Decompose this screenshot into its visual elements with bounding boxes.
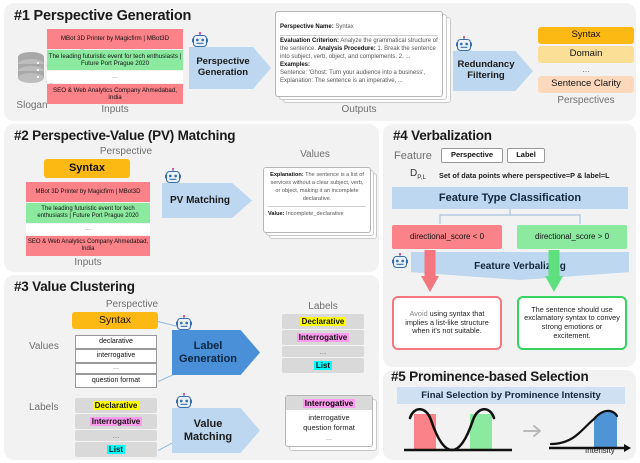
directional-score-negative: directional_score < 0 <box>392 225 502 249</box>
avoid-keyword: Avoid <box>410 309 428 318</box>
perspective-chip-syntax: Syntax <box>44 159 130 178</box>
label-item: ... <box>282 346 364 357</box>
value-item: question format <box>75 374 157 388</box>
label-generation-arrow: Label Generation <box>172 330 260 375</box>
perspective-caption: Perspective <box>72 299 192 310</box>
labels-caption-right: Labels <box>282 301 364 312</box>
input-chip: ... <box>26 224 150 235</box>
feature-label: Feature <box>394 150 432 162</box>
value-value: Incomplete_declarative <box>286 211 344 217</box>
pv-matching-arrow: PV Matching <box>162 183 252 218</box>
section-2-panel: #2 Perspective-Value (PV) Matching Persp… <box>4 124 379 272</box>
section-3-title: #3 Value Clustering <box>14 279 135 294</box>
input-chip: The leading futuristic event for tech en… <box>26 203 150 223</box>
transition-arrow-icon <box>523 424 545 438</box>
section-1-title: #1 Perspective Generation <box>14 8 191 24</box>
input-chip: MBot 3D Printer by Magicfirm | MBot3D <box>47 29 183 49</box>
redundancy-filtering-arrow: Redundancy Filtering <box>453 51 533 91</box>
perspective-generation-arrow: Perspective Generation <box>189 47 271 89</box>
value-item: ... <box>75 363 157 374</box>
feature-verbalizing-band: Feature Verbalizing <box>411 252 629 280</box>
label-text: Interrogative <box>90 417 142 426</box>
value-matching-arrow: Value Matching <box>172 408 260 453</box>
feature-chip-perspective: Perspective <box>441 148 503 163</box>
perspective-name-key: Perspective Name: <box>280 24 334 30</box>
match-card-line: interrogative <box>286 413 372 423</box>
label-text: List <box>107 445 125 454</box>
database-icon <box>16 51 46 90</box>
input-chip: SEO & Web Analytics Company Ahmedabad, I… <box>47 84 183 104</box>
label-text: Interrogative <box>297 333 349 342</box>
match-card-header: Interrogative <box>303 399 355 408</box>
section-2-title: #2 Perspective-Value (PV) Matching <box>14 128 235 143</box>
examples-value: Sentence: 'Ghost: Turn your audience int… <box>280 70 425 84</box>
inputs-caption: Inputs <box>26 257 150 268</box>
feature-type-classification-banner: Feature Type Classification <box>392 187 628 209</box>
perspective-chip: ... <box>538 64 634 75</box>
input-chip: SEO & Web Analytics Company Ahmedabad, I… <box>26 236 150 256</box>
section-5-panel: #5 Prominence-based Selection Final Sele… <box>383 370 636 460</box>
dpl-description: Set of data points where perspective=P &… <box>439 171 610 180</box>
value-output-card: Explanation: The sentence is a list of s… <box>263 167 371 233</box>
perspective-name-value: Syntax <box>335 24 353 30</box>
branch-connector <box>392 209 628 225</box>
inputs-caption: Inputs <box>47 104 183 115</box>
label-item: Interrogative <box>282 330 364 345</box>
final-selection-banner: Final Selection by Prominence Intensity <box>397 387 625 404</box>
input-chip: MBot 3D Printer by Magicfirm | MBot3D <box>26 182 150 202</box>
section-4-title: #4 Verbalization <box>393 128 492 143</box>
bimodal-distribution-chart <box>400 408 518 456</box>
verbalized-output-negative: Avoid using syntax that implies a list-l… <box>392 296 502 350</box>
label-item: Interrogative <box>75 414 157 429</box>
directional-score-positive: directional_score > 0 <box>517 225 627 249</box>
input-chip: ... <box>47 71 183 83</box>
robot-icon <box>392 253 408 276</box>
analysis-procedure-key: Analysis Procedure: <box>318 46 376 52</box>
perspectives-caption: Perspectives <box>538 95 634 106</box>
perspective-chip: Sentence Clarity <box>538 76 634 93</box>
values-caption: Values <box>29 341 59 352</box>
outputs-caption: Outputs <box>275 104 443 115</box>
match-card-line: ... <box>286 433 372 443</box>
verbalized-output-positive: The sentence should use exclamatory synt… <box>517 296 627 350</box>
section-1-panel: #1 Perspective Generation Slogan MBot 3D… <box>4 3 636 121</box>
section-4-panel: #4 Verbalization Feature Perspective Lab… <box>383 124 636 367</box>
match-card-line: question format <box>286 423 372 433</box>
label-item: ... <box>75 430 157 441</box>
label-item: Declarative <box>75 398 157 413</box>
perspective-chip-syntax: Syntax <box>72 312 158 329</box>
down-arrow-red-icon <box>419 250 441 294</box>
evaluation-criterion-key: Evaluation Criterion: <box>280 38 339 44</box>
section-3-panel: #3 Value Clustering Perspective Syntax V… <box>4 275 379 460</box>
label-item: Declarative <box>282 314 364 329</box>
input-chip: The leading futuristic event for tech en… <box>47 50 183 70</box>
label-item: List <box>282 358 364 373</box>
label-item: List <box>75 442 157 457</box>
value-item: declarative <box>75 335 157 349</box>
perspective-caption: Perspective <box>58 146 194 157</box>
intensity-axis-label: Intensity <box>585 446 615 455</box>
feature-chip-label: Label <box>507 148 545 163</box>
value-matching-card: Interrogative interrogative question for… <box>285 395 373 447</box>
explanation-key: Explanation: <box>270 172 304 178</box>
values-caption: Values <box>259 149 371 160</box>
label-text: Declarative <box>93 401 140 410</box>
examples-key: Examples: <box>280 62 310 68</box>
down-arrow-green-icon <box>543 250 565 294</box>
perspective-chip: Domain <box>538 46 634 63</box>
value-item: interrogative <box>75 349 157 363</box>
perspective-output-card: Perspective Name: Syntax Evaluation Crit… <box>275 11 443 97</box>
value-key: Value: <box>268 211 284 217</box>
dpl-symbol: DP,L <box>410 168 426 181</box>
label-text: List <box>314 361 332 370</box>
perspective-chip: Syntax <box>538 27 634 44</box>
label-text: Declarative <box>300 317 347 326</box>
labels-caption-left: Labels <box>29 402 58 413</box>
section-5-title: #5 Prominence-based Selection <box>391 369 589 384</box>
